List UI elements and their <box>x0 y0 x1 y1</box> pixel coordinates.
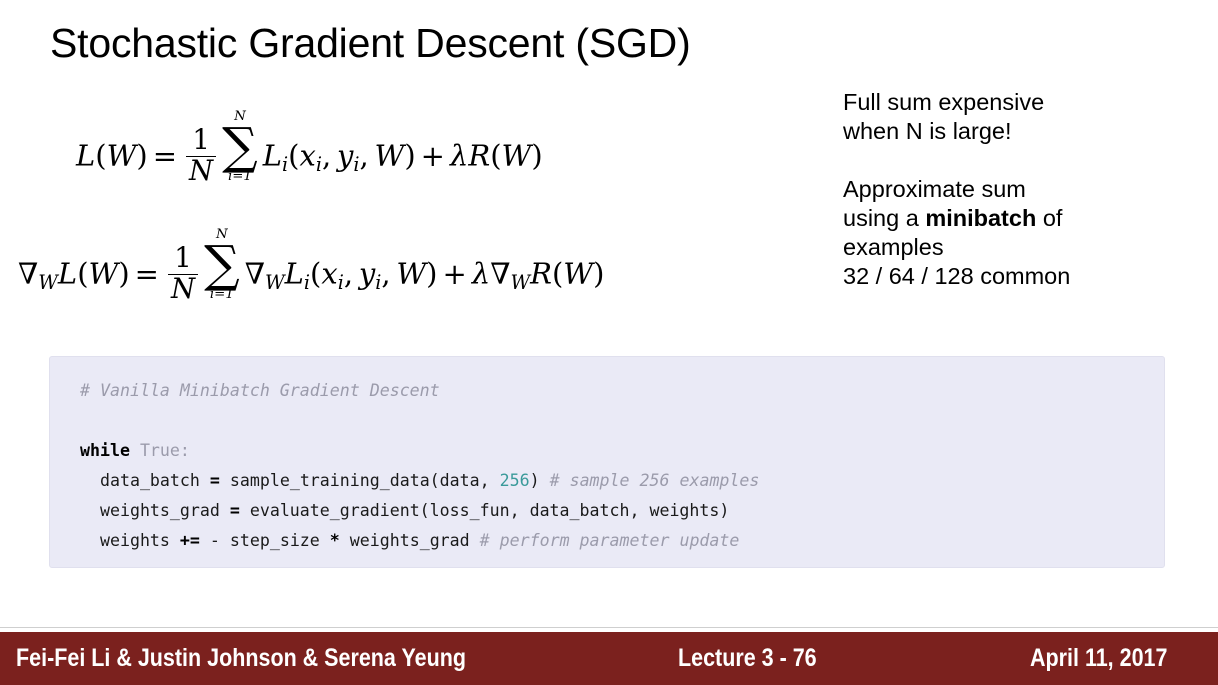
code-line2-comment: # sample 256 examples <box>540 471 760 490</box>
note-spacer <box>843 146 1173 175</box>
nabla-icon: ∇ <box>245 257 265 291</box>
footer-lecture-slide: Lecture 3 - 76 <box>678 632 817 685</box>
code-line2-indent <box>80 471 100 490</box>
eq1-reg-open: ( <box>490 139 501 173</box>
eq1-term-y: y <box>337 139 353 173</box>
eq1-equals: = <box>153 139 177 173</box>
code-line4-rhs: weights_grad <box>340 531 470 550</box>
eq2-frac-denominator: N <box>168 274 198 305</box>
code-line4-operator-multiply: * <box>330 531 340 550</box>
code-line2-lhs: data_batch <box>100 471 210 490</box>
eq2-term-L: L <box>285 257 304 291</box>
eq2-equals: = <box>135 257 159 291</box>
page-title: Stochastic Gradient Descent (SGD) <box>50 20 691 67</box>
eq2-summation: N∑i=1 <box>204 228 240 302</box>
footer-authors: Fei-Fei Li & Justin Johnson & Serena Yeu… <box>16 632 466 685</box>
eq2-paren-open: ( <box>77 257 88 291</box>
eq2-plus: + <box>443 257 467 291</box>
equation-gradient: ∇WL(W)=1NN∑i=1∇WLi(xi, yi, W)+λ∇WR(W) <box>18 228 604 305</box>
nabla-icon: ∇ <box>490 257 510 291</box>
eq2-comma-2: , <box>381 257 390 291</box>
note-line-1: Full sum expensive <box>843 88 1173 117</box>
code-line4-mid: - step_size <box>200 531 330 550</box>
eq2-term-open: ( <box>310 257 321 291</box>
eq2-term-y: y <box>359 257 375 291</box>
code-comment-header: # Vanilla Minibatch Gradient Descent <box>80 381 440 400</box>
footer-date: April 11, 2017 <box>1030 632 1167 685</box>
code-line4-comment: # perform parameter update <box>470 531 740 550</box>
eq2-term-x: x <box>321 257 337 291</box>
equation-loss: L(W)=1NN∑i=1Li(xi, yi, W)+λR(W) <box>76 110 543 187</box>
code-blank-line <box>80 406 1154 436</box>
note-line-2: when N is large! <box>843 117 1173 146</box>
eq2-L: L <box>58 257 77 291</box>
eq1-reg-close: ) <box>531 139 542 173</box>
eq1-L: L <box>76 139 95 173</box>
footer-bar: Fei-Fei Li & Justin Johnson & Serena Yeu… <box>0 632 1218 685</box>
eq2-fraction: 1N <box>168 244 198 305</box>
note-line-4-post: of <box>1036 205 1062 231</box>
code-line2-close: ) <box>530 471 540 490</box>
eq1-comma-1: , <box>322 139 331 173</box>
code-line2-operator: = <box>210 471 220 490</box>
note-line-3: Approximate sum <box>843 175 1173 204</box>
eq2-reg-R: R <box>530 257 552 291</box>
code-line4-indent <box>80 531 100 550</box>
eq1-plus: + <box>421 139 445 173</box>
code-line2-number: 256 <box>500 471 530 490</box>
eq1-frac-numerator: 1 <box>186 126 216 156</box>
code-block: # Vanilla Minibatch Gradient Descentwhil… <box>49 356 1165 568</box>
eq2-paren-close: ) <box>118 257 129 291</box>
eq2-W: W <box>89 257 119 291</box>
eq2-comma-1: , <box>344 257 353 291</box>
sigma-icon: ∑ <box>204 242 240 288</box>
code-line3-indent <box>80 501 100 520</box>
eq2-lambda: λ <box>472 257 490 291</box>
eq2-reg-close: ) <box>593 257 604 291</box>
code-line4-operator-plus-equals: += <box>180 531 200 550</box>
side-notes: Full sum expensive when N is large! Appr… <box>843 88 1173 291</box>
eq2-reg-open: ( <box>552 257 563 291</box>
eq2-reg-W: W <box>563 257 593 291</box>
note-line-4: using a minibatch of <box>843 204 1173 233</box>
note-line-4-pre: using a <box>843 205 925 231</box>
eq1-comma-2: , <box>360 139 369 173</box>
code-line3-operator: = <box>230 501 240 520</box>
nabla-icon: ∇ <box>18 257 38 291</box>
eq1-W: W <box>107 139 137 173</box>
code-line4-lhs: weights <box>100 531 180 550</box>
code-builtin-true: True: <box>130 441 190 460</box>
eq1-term-close: ) <box>404 139 415 173</box>
eq1-term-W: W <box>375 139 405 173</box>
eq2-term-W: W <box>396 257 426 291</box>
code-line3-lhs: weights_grad <box>100 501 230 520</box>
footer-divider <box>0 627 1218 628</box>
sigma-icon: ∑ <box>222 124 258 170</box>
eq1-lambda: λ <box>450 139 468 173</box>
eq1-term-L: L <box>263 139 282 173</box>
code-content: # Vanilla Minibatch Gradient Descentwhil… <box>80 376 1154 556</box>
eq1-paren-open: ( <box>95 139 106 173</box>
note-line-6: 32 / 64 / 128 common <box>843 262 1173 291</box>
eq1-reg-W: W <box>502 139 532 173</box>
code-line2-call: sample_training_data(data, <box>220 471 500 490</box>
eq1-paren-close: ) <box>136 139 147 173</box>
eq1-reg-R: R <box>468 139 490 173</box>
eq1-frac-denominator: N <box>186 156 216 187</box>
note-minibatch-emphasis: minibatch <box>925 205 1036 231</box>
code-line3-call: evaluate_gradient(loss_fun, data_batch, … <box>240 501 730 520</box>
eq1-term-x: x <box>299 139 315 173</box>
eq1-summation: N∑i=1 <box>222 110 258 184</box>
eq2-term-nabla-sub: W <box>265 271 285 294</box>
eq2-term-close: ) <box>426 257 437 291</box>
eq2-frac-numerator: 1 <box>168 244 198 274</box>
eq1-term-open: ( <box>288 139 299 173</box>
code-keyword-while: while <box>80 441 130 460</box>
eq1-fraction: 1N <box>186 126 216 187</box>
eq2-nabla-sub: W <box>38 271 58 294</box>
eq2-reg-nabla-sub: W <box>510 271 530 294</box>
note-line-5: examples <box>843 233 1173 262</box>
